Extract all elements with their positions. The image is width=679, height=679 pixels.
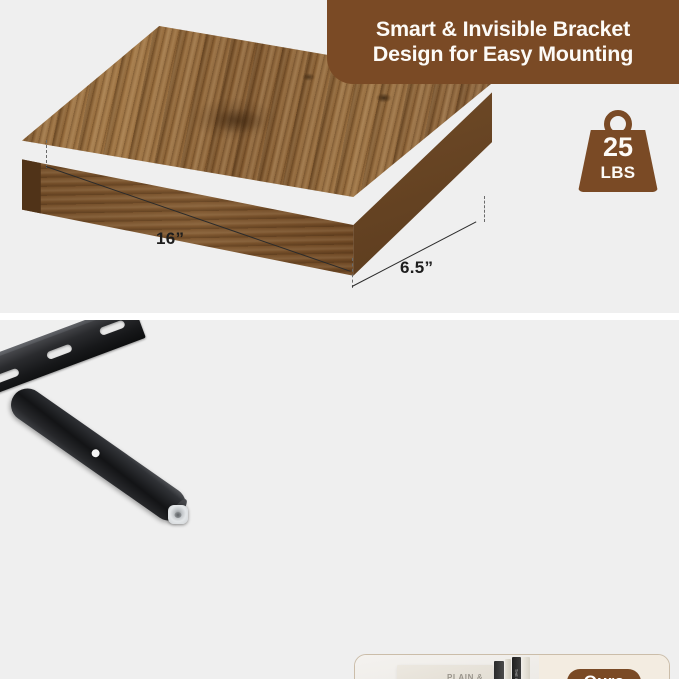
header-title: Smart & Invisible Bracket Design for Eas…	[373, 17, 633, 67]
bracket-slot	[46, 344, 73, 361]
dimension-label-depth: 6.5”	[400, 258, 433, 278]
bracket-rod	[5, 382, 193, 527]
product-infographic: 16” 6.5” Smart & Invisible Bracket Desig…	[0, 0, 679, 679]
photo-book-spine	[505, 659, 511, 679]
dimension-tick-left	[46, 140, 47, 168]
bracket-mounting-plate	[0, 320, 146, 399]
photo-book-spine	[494, 661, 504, 679]
weight-capacity-badge: 25 LBS	[578, 110, 658, 192]
weight-value: 25	[578, 134, 658, 161]
header-banner: Smart & Invisible Bracket Design for Eas…	[327, 0, 679, 84]
bottom-panel: Made of Military Grade Iron Unique Rubbe…	[0, 320, 679, 679]
badge-ours: Ours	[567, 669, 641, 679]
rubber-stopper	[168, 505, 188, 524]
photo-book-spine	[522, 657, 530, 679]
top-panel: 16” 6.5” Smart & Invisible Bracket Desig…	[0, 0, 679, 313]
bracket-slot	[0, 368, 20, 385]
bracket-slot	[99, 320, 126, 336]
photo-book-title-line1: PLAIN &	[447, 673, 483, 679]
comparison-photo-ours: PLAIN & SIMPLE KIM BRENNEMAN LITTLE BOOK…	[355, 655, 539, 679]
bracket-image	[0, 324, 306, 594]
photo-spine-text: THE HOME EDIT	[514, 669, 518, 679]
dimension-tick-bottom	[352, 258, 353, 288]
rod-stud-marker	[90, 448, 101, 459]
dimension-label-length: 16”	[156, 229, 184, 249]
comparison-card-ours: PLAIN & SIMPLE KIM BRENNEMAN LITTLE BOOK…	[354, 654, 670, 679]
comparison-info-ours: Ours DEEPER & THICKER Create more storag…	[539, 655, 669, 679]
weight-unit: LBS	[578, 164, 658, 181]
panel-divider	[0, 313, 679, 320]
dimension-tick-right	[484, 196, 485, 222]
